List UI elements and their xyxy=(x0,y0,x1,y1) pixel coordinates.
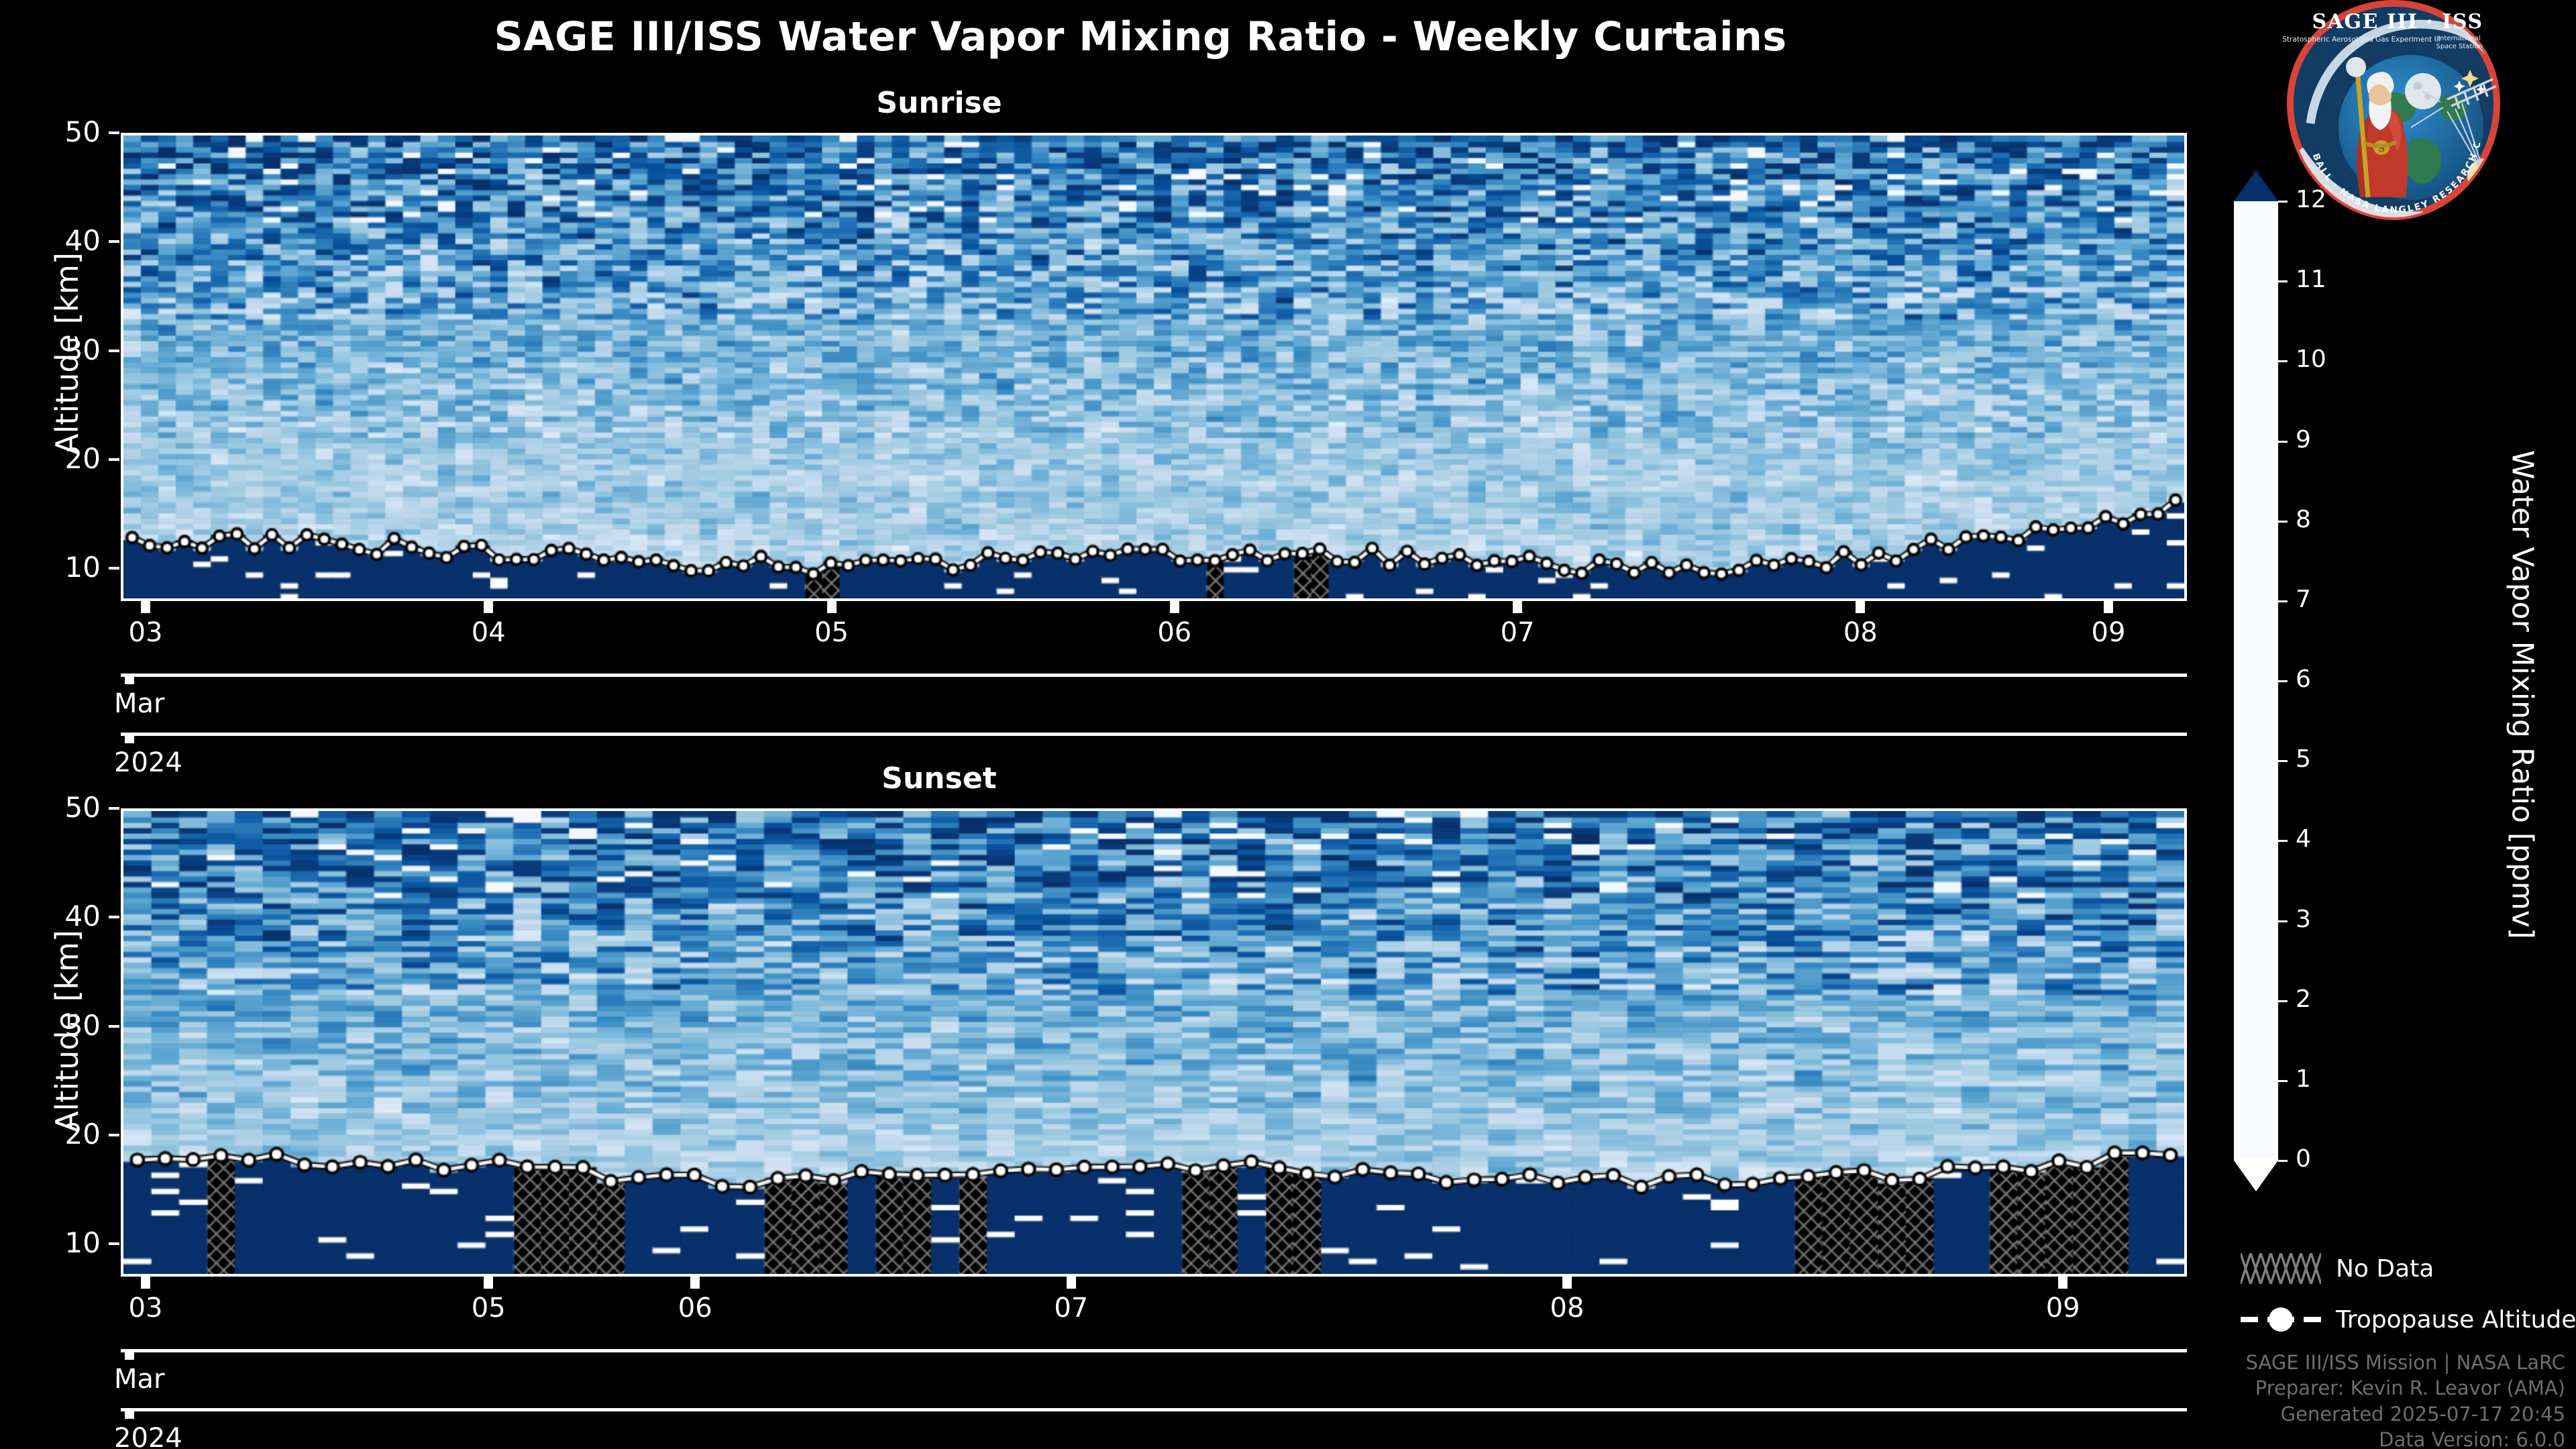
x-month-rule-sunset xyxy=(121,1349,2187,1352)
legend-label-tropopause: Tropopause Altitude xyxy=(2336,1306,2576,1334)
y-tick-label-sunset-10: 10 xyxy=(0,1226,101,1259)
x-tick-mark-sunset-03 xyxy=(141,1277,150,1289)
x-tick-label-sunrise-07: 07 xyxy=(1501,617,1535,648)
x-tick-mark-sunset-06 xyxy=(690,1277,700,1289)
x-tick-mark-sunrise-09 xyxy=(2104,601,2113,613)
x-tick-mark-sunrise-03 xyxy=(141,601,150,613)
panel-title-sunset: Sunset xyxy=(134,761,1744,796)
heatmap-canvas-sunset xyxy=(123,811,2184,1274)
y-tick-label-sunset-50: 50 xyxy=(0,791,101,824)
x-tick-label-sunrise-06: 06 xyxy=(1157,617,1191,648)
colorbar-tick-label-0: 0 xyxy=(2296,1145,2311,1173)
x-tick-label-sunset-06: 06 xyxy=(678,1293,712,1324)
colorbar-tick-label-6: 6 xyxy=(2296,665,2311,693)
colorbar-tick-mark-1 xyxy=(2278,1080,2288,1082)
y-tick-mark-sunrise-30 xyxy=(109,350,119,352)
footer-line-mission: SAGE III/ISS Mission | NASA LaRC xyxy=(2246,1350,2565,1375)
y-tick-mark-sunset-30 xyxy=(109,1025,119,1028)
y-tick-label-sunrise-20: 20 xyxy=(0,442,101,475)
x-tick-label-sunset-07: 07 xyxy=(1054,1293,1088,1324)
svg-text:SAGE III · ISS: SAGE III · ISS xyxy=(2312,10,2483,34)
x-tick-mark-sunrise-08 xyxy=(1856,601,1865,613)
colorbar-tick-label-3: 3 xyxy=(2296,906,2311,933)
heatmap-sunset xyxy=(121,808,2187,1277)
colorbar-tick-mark-0 xyxy=(2278,1160,2288,1162)
x-tick-label-sunrise-09: 09 xyxy=(2092,617,2126,648)
colorbar-tick-label-8: 8 xyxy=(2296,506,2311,533)
heatmap-canvas-sunrise xyxy=(123,136,2184,598)
colorbar-tick-mark-11 xyxy=(2278,280,2288,282)
y-tick-mark-sunrise-40 xyxy=(109,240,119,243)
colorbar-tick-mark-8 xyxy=(2278,521,2288,523)
page-title: SAGE III/ISS Water Vapor Mixing Ratio - … xyxy=(0,13,2281,60)
x-tick-mark-sunrise-06 xyxy=(1170,601,1179,613)
y-tick-label-sunset-20: 20 xyxy=(0,1118,101,1150)
footer-credits: SAGE III/ISS Mission | NASA LaRC Prepare… xyxy=(2246,1350,2565,1449)
svg-text:Stratospheric Aerosol and Gas: Stratospheric Aerosol and Gas Experiment… xyxy=(2282,36,2440,44)
colorbar-tick-mark-4 xyxy=(2278,840,2288,842)
no-data-hatch-icon xyxy=(2241,1253,2321,1284)
colorbar-extend-bottom-icon xyxy=(2234,1161,2278,1191)
colorbar-gradient xyxy=(2234,201,2278,1161)
y-tick-label-sunrise-10: 10 xyxy=(0,551,101,584)
colorbar-tick-label-9: 9 xyxy=(2296,426,2311,453)
x-month-tick-sunrise xyxy=(125,674,134,684)
y-tick-mark-sunrise-20 xyxy=(109,458,119,461)
legend-item-no-data: No Data xyxy=(2241,1253,2434,1284)
x-year-tick-sunset xyxy=(125,1408,134,1419)
x-tick-mark-sunrise-05 xyxy=(827,601,837,613)
svg-text:Space Station: Space Station xyxy=(2436,43,2482,50)
x-tick-label-sunrise-04: 04 xyxy=(472,617,506,648)
x-tick-mark-sunrise-07 xyxy=(1513,601,1522,613)
colorbar-tick-mark-3 xyxy=(2278,920,2288,922)
colorbar-tick-label-10: 10 xyxy=(2296,345,2326,373)
y-tick-mark-sunrise-10 xyxy=(109,567,119,570)
colorbar-tick-mark-5 xyxy=(2278,760,2288,762)
x-month-tick-sunset xyxy=(125,1349,134,1360)
x-tick-label-sunrise-03: 03 xyxy=(129,617,163,648)
x-tick-mark-sunset-08 xyxy=(1562,1277,1572,1289)
y-tick-mark-sunset-50 xyxy=(109,807,119,810)
colorbar-tick-label-7: 7 xyxy=(2296,586,2311,613)
y-tick-mark-sunrise-50 xyxy=(109,131,119,134)
x-tick-label-sunset-03: 03 xyxy=(129,1293,163,1324)
colorbar-tick-mark-10 xyxy=(2278,360,2288,362)
svg-text:International: International xyxy=(2438,35,2481,42)
x-year-rule-sunset xyxy=(121,1408,2187,1411)
colorbar-tick-label-4: 4 xyxy=(2296,825,2311,853)
x-tick-label-sunrise-08: 08 xyxy=(1843,617,1878,648)
x-tick-label-sunset-08: 08 xyxy=(1550,1293,1585,1324)
colorbar-tick-label-11: 11 xyxy=(2296,266,2326,293)
y-tick-label-sunset-40: 40 xyxy=(0,900,101,932)
footer-line-preparer: Preparer: Kevin R. Leavor (AMA) xyxy=(2246,1375,2565,1401)
footer-line-version: Data Version: 6.0.0 xyxy=(2246,1427,2565,1449)
colorbar-tick-label-1: 1 xyxy=(2296,1065,2311,1093)
tropopause-line-icon xyxy=(2241,1304,2321,1335)
y-tick-label-sunset-30: 30 xyxy=(0,1009,101,1042)
x-year-rule-sunrise xyxy=(121,733,2187,736)
x-year-tick-sunrise xyxy=(125,733,134,743)
x-tick-mark-sunset-09 xyxy=(2058,1277,2068,1289)
colorbar-tick-label-2: 2 xyxy=(2296,985,2311,1013)
legend-item-tropopause: Tropopause Altitude xyxy=(2241,1304,2576,1335)
x-tick-label-sunset-05: 05 xyxy=(472,1293,506,1324)
colorbar-extend-top-icon xyxy=(2234,170,2278,201)
x-month-rule-sunrise xyxy=(121,674,2187,677)
heatmap-sunrise xyxy=(121,133,2187,601)
legend-label-no-data: No Data xyxy=(2336,1255,2434,1283)
x-tick-mark-sunset-07 xyxy=(1067,1277,1076,1289)
x-tick-label-sunrise-05: 05 xyxy=(814,617,849,648)
x-tick-mark-sunrise-04 xyxy=(484,601,493,613)
x-month-label-sunrise: Mar xyxy=(114,688,164,719)
panel-title-sunrise: Sunrise xyxy=(134,86,1744,120)
y-tick-mark-sunset-10 xyxy=(109,1242,119,1245)
colorbar-tick-label-5: 5 xyxy=(2296,745,2311,773)
colorbar-tick-mark-9 xyxy=(2278,441,2288,443)
y-tick-mark-sunset-40 xyxy=(109,916,119,918)
y-tick-mark-sunset-20 xyxy=(109,1134,119,1136)
colorbar-tick-mark-6 xyxy=(2278,680,2288,682)
x-tick-mark-sunset-05 xyxy=(484,1277,493,1289)
colorbar-tick-mark-2 xyxy=(2278,1000,2288,1002)
x-year-label-sunset: 2024 xyxy=(114,1423,182,1449)
y-tick-label-sunrise-50: 50 xyxy=(0,115,101,148)
colorbar-label: Water Vapor Mixing Ratio [ppmv] xyxy=(2506,393,2540,997)
y-tick-label-sunrise-40: 40 xyxy=(0,224,101,257)
colorbar-tick-mark-7 xyxy=(2278,600,2288,602)
sage-iii-iss-mission-patch-icon: S BALL · NASA LANGLEY RESEARCH CENTER · … xyxy=(2279,0,2508,224)
y-tick-label-sunrise-30: 30 xyxy=(0,333,101,366)
x-tick-label-sunset-09: 09 xyxy=(2046,1293,2080,1324)
footer-line-generated: Generated 2025-07-17 20:45 xyxy=(2246,1401,2565,1427)
x-month-label-sunset: Mar xyxy=(114,1364,164,1395)
